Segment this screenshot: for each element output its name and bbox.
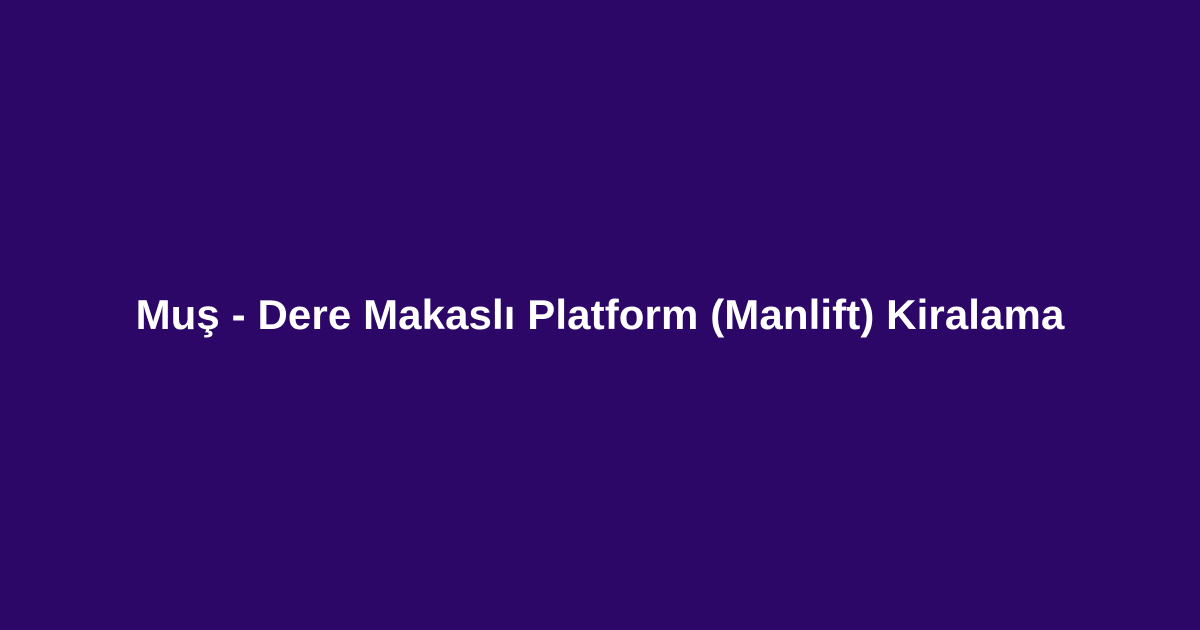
og-preview-card: Muş - Dere Makaslı Platform (Manlift) Ki…	[0, 0, 1200, 630]
page-title: Muş - Dere Makaslı Platform (Manlift) Ki…	[136, 290, 1065, 340]
title-block: Muş - Dere Makaslı Platform (Manlift) Ki…	[120, 290, 1080, 340]
